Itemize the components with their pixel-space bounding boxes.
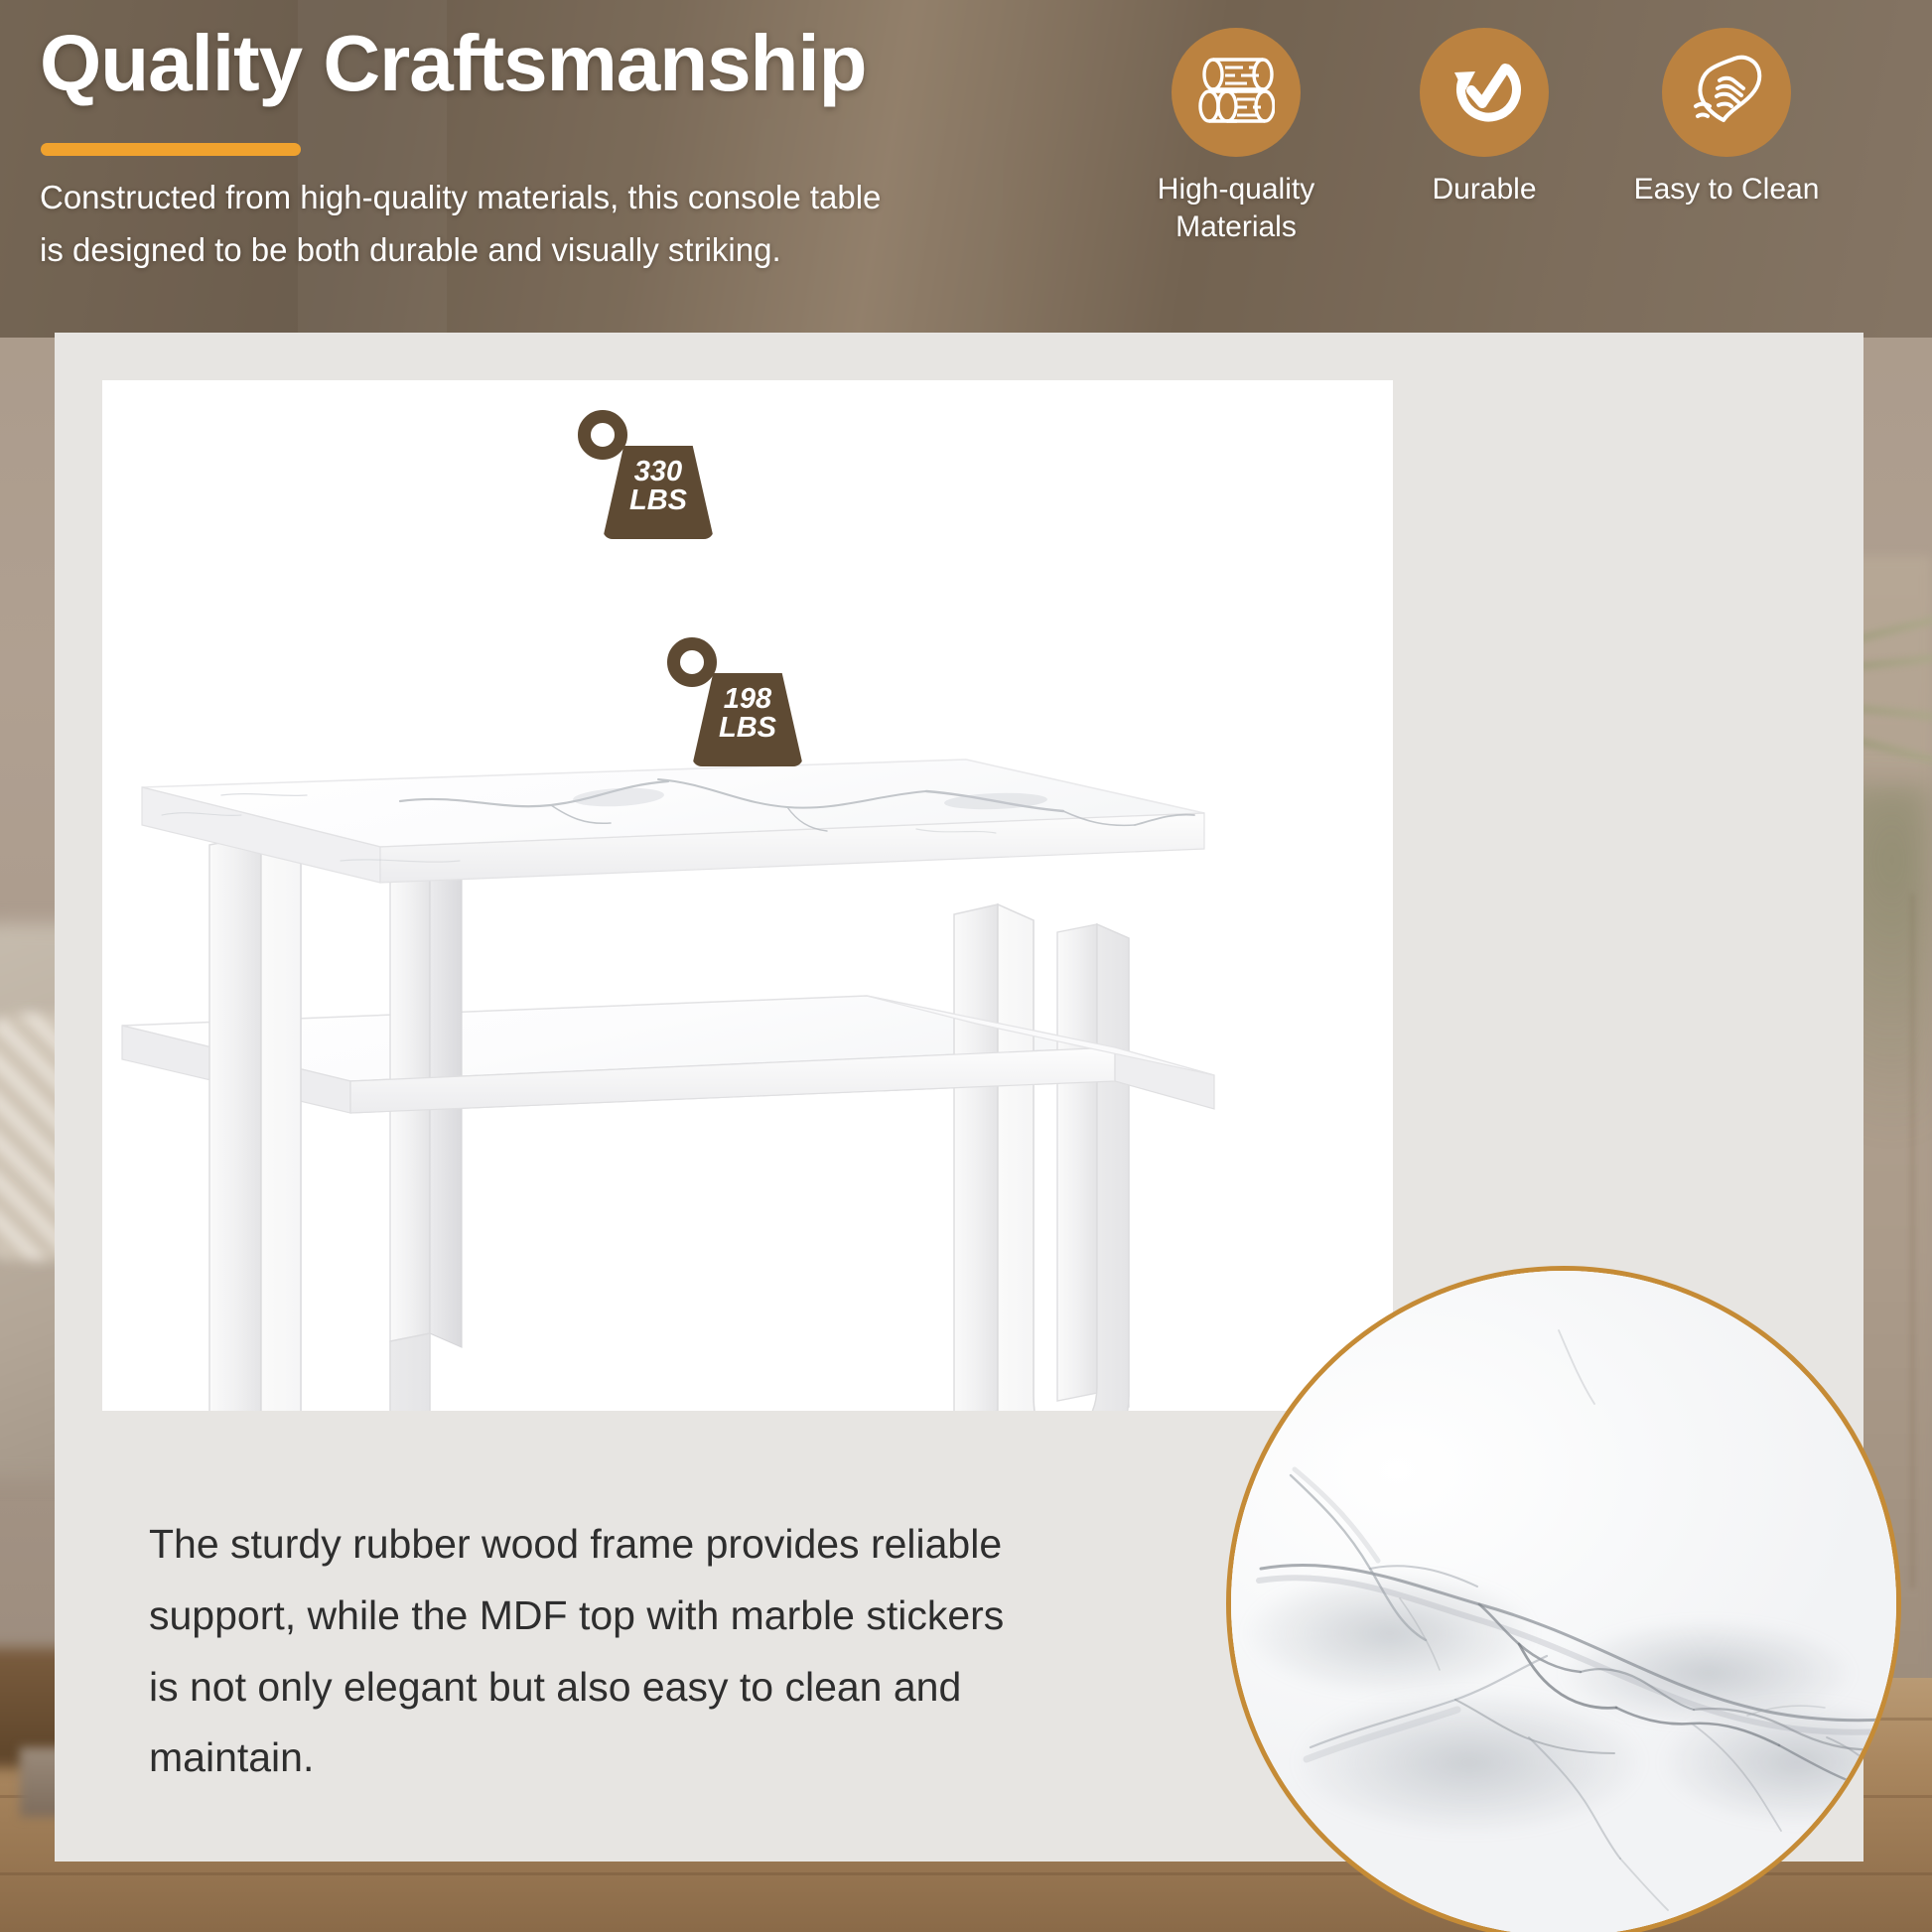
- feature-badge-circle: [1172, 28, 1301, 157]
- marble-veins: [1231, 1271, 1901, 1932]
- weight-unit: LBS: [692, 714, 803, 743]
- console-table-illustration: [102, 380, 1393, 1411]
- feature-easy-to-clean: Easy to Clean: [1602, 28, 1851, 208]
- header-subtitle: Constructed from high-quality materials,…: [40, 171, 903, 277]
- weight-badge-text: 330 LBS: [603, 458, 714, 515]
- marble-detail-circle: [1226, 1266, 1901, 1932]
- feature-badge-circle: [1662, 28, 1791, 157]
- feature-label: High-qualityMaterials: [1112, 171, 1360, 247]
- weight-badge-ring: [578, 410, 627, 460]
- header: Quality Craftsmanship Constructed from h…: [0, 0, 1932, 338]
- weight-badge-text: 198 LBS: [692, 685, 803, 743]
- wipe-clean-hand-icon: [1686, 51, 1767, 135]
- feature-label: Easy to Clean: [1602, 171, 1851, 208]
- feature-badges: High-qualityMaterials Durable: [1132, 28, 1932, 276]
- feature-badge-circle: [1420, 28, 1549, 157]
- weight-badge-ring: [667, 637, 717, 687]
- durable-check-icon: [1445, 51, 1524, 135]
- title-accent-bar: [41, 143, 301, 156]
- body-copy: The sturdy rubber wood frame provides re…: [149, 1509, 1023, 1794]
- feature-label: Durable: [1360, 171, 1608, 208]
- page-title: Quality Craftsmanship: [40, 22, 867, 105]
- wood-logs-icon: [1197, 54, 1275, 132]
- weight-value: 330: [603, 458, 714, 486]
- feature-durable: Durable: [1360, 28, 1608, 208]
- weight-unit: LBS: [603, 486, 714, 515]
- product-photo: 330 LBS 198 LBS: [102, 380, 1393, 1411]
- feature-high-quality-materials: High-qualityMaterials: [1112, 28, 1360, 247]
- weight-value: 198: [692, 685, 803, 714]
